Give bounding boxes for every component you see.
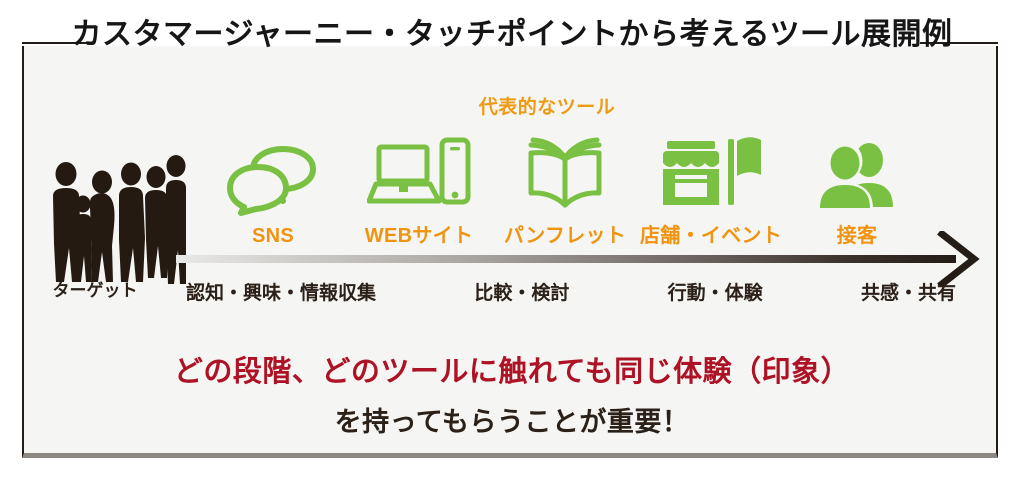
stage-label: 比較・検討 (474, 278, 569, 305)
stage-label: 認知・興味・情報収集 (186, 278, 376, 305)
tools-caption-text: 代表的なツール (479, 92, 616, 119)
tool-item-website[interactable]: WEBサイト (346, 133, 492, 248)
journey-arrow-line (176, 255, 956, 263)
laptop-smartphone-icon (367, 133, 471, 211)
message-line-2: を持ってもらうことが重要！ (0, 400, 1024, 439)
tool-label: 接客 (837, 219, 878, 248)
target-label: ターゲット (0, 276, 190, 301)
stage-label: 行動・体験 (668, 278, 763, 305)
speech-bubbles-icon (227, 139, 319, 217)
tool-label: パンフレット (504, 219, 626, 248)
open-book-icon (517, 133, 613, 211)
tool-item-pamphlet[interactable]: パンフレット (492, 133, 638, 248)
tools-caption: 代表的なツール (0, 92, 1024, 119)
tool-list: SNS WEBサイト (200, 136, 930, 248)
infographic-canvas: カスタマージャーニー・タッチポイントから考えるツール展開例 代表的なツール (0, 0, 1024, 500)
tool-label: WEBサイト (365, 219, 473, 248)
tool-label: SNS (252, 225, 294, 248)
page-title: カスタマージャーニー・タッチポイントから考えるツール展開例 (0, 18, 1024, 52)
two-people-icon (815, 133, 899, 211)
stage-list: 認知・興味・情報収集 比較・検討 行動・体験 共感・共有 (186, 276, 956, 306)
stage-label: 共感・共有 (861, 278, 956, 305)
storefront-flag-icon (653, 133, 769, 211)
tool-item-store-event[interactable]: 店舗・イベント (638, 133, 784, 248)
tool-label: 店舗・イベント (640, 219, 782, 248)
tool-item-sns[interactable]: SNS (200, 139, 346, 248)
tool-item-service[interactable]: 接客 (784, 133, 930, 248)
message-line-1: どの段階、どのツールに触れても同じ体験（印象） (0, 348, 1024, 390)
